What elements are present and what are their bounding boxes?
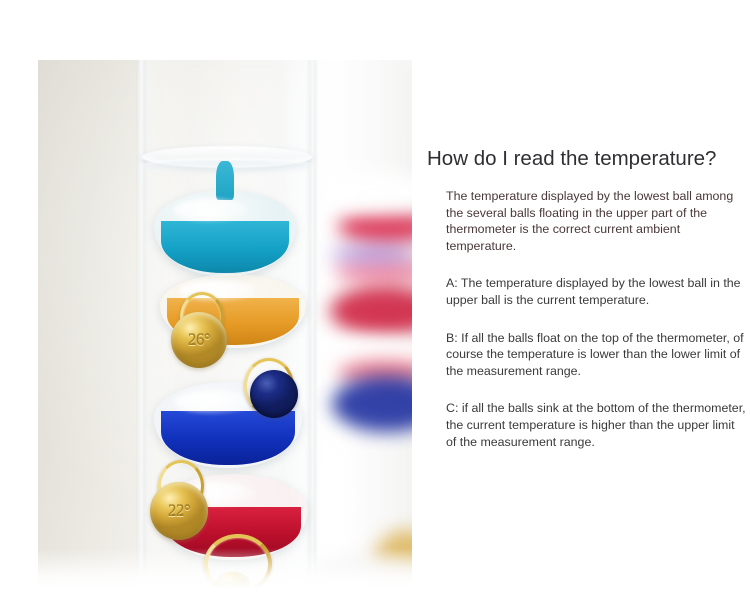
article-text-panel: How do I read the temperature? The tempe… [427, 146, 747, 450]
temperature-tag-22: 22° [150, 482, 208, 540]
temperature-tag-26: 26° [171, 312, 227, 368]
paragraph-intro: The temperature displayed by the lowest … [446, 188, 747, 254]
paragraph-c: C: if all the balls sink at the bottom o… [446, 400, 747, 450]
tube-right-edge [309, 60, 316, 588]
float-ball-blue-highlight [175, 391, 252, 413]
float-ball-teal-neck [216, 161, 233, 201]
background-blob-highlight [312, 442, 352, 562]
temperature-tag-navy [250, 370, 298, 418]
background-blob-violet [330, 246, 412, 262]
float-ball-teal-liquid [161, 221, 289, 273]
paragraph-b: B: If all the balls float on the top of … [446, 330, 747, 380]
float-ball-teal-highlight [174, 199, 248, 221]
photo-bottom-fade [38, 548, 412, 588]
float-ball-blue-liquid [161, 411, 294, 464]
galileo-thermometer-photo: 26° 22° [38, 60, 412, 588]
tube-left-edge [138, 60, 145, 588]
paragraph-a: A: The temperature displayed by the lowe… [446, 275, 747, 308]
page-title: How do I read the temperature? [427, 146, 747, 172]
